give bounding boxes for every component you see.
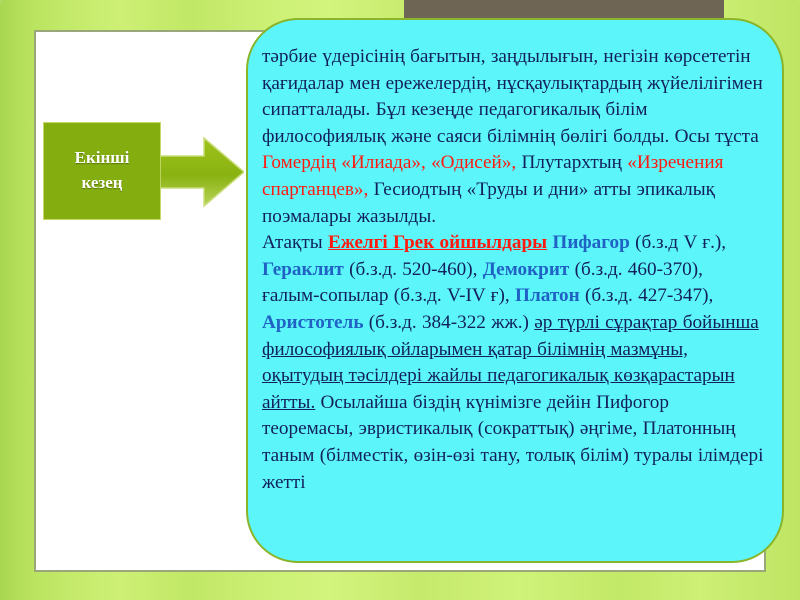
text-run-plain-2: Плутархтың (516, 152, 627, 173)
slide-canvas: stud.kz Екінші кезең тәрбие үдерісінің б… (0, 0, 800, 600)
stage-label-line1: Екінші (75, 146, 130, 171)
text-run-plain-9: (б.з.д. 384-322 жж.) (363, 312, 534, 333)
text-run-blue-platon: Платон (515, 285, 580, 306)
text-run-blue-aristotel: Аристотель (262, 312, 363, 333)
stage-label-box: Екінші кезең (43, 122, 161, 220)
right-arrow-icon (160, 134, 244, 210)
text-run-plain-8: (б.з.д. 427-347), (580, 285, 714, 306)
text-card: тәрбие үдерісінің бағытын, заңдылығын, н… (246, 18, 784, 563)
text-run-blue-geraklit: Гераклит (262, 259, 344, 280)
body-text: тәрбие үдерісінің бағытын, заңдылығын, н… (262, 44, 764, 496)
text-run-blue-demokrit: Демокрит (483, 259, 570, 280)
text-run-plain-6: (б.з.д. 520-460), (344, 259, 483, 280)
text-run-plain-1: тәрбие үдерісінің бағытын, заңдылығын, н… (262, 46, 763, 147)
text-run-blue-pifagor: Пифагор (552, 232, 629, 253)
text-run-red-1: Гомердің «Илиада», «Одисей», (262, 152, 516, 173)
text-run-plain-4: Атақты (262, 232, 328, 253)
text-run-plain-10: Осылайша біздің күнімізге дейін Пифогор … (262, 392, 763, 493)
text-run-red-underline: Ежелгі Грек ойшылдары (328, 232, 547, 253)
stage-label-line2: кезең (81, 171, 122, 196)
text-run-plain-5: (б.з.д V ғ.), (630, 232, 726, 253)
